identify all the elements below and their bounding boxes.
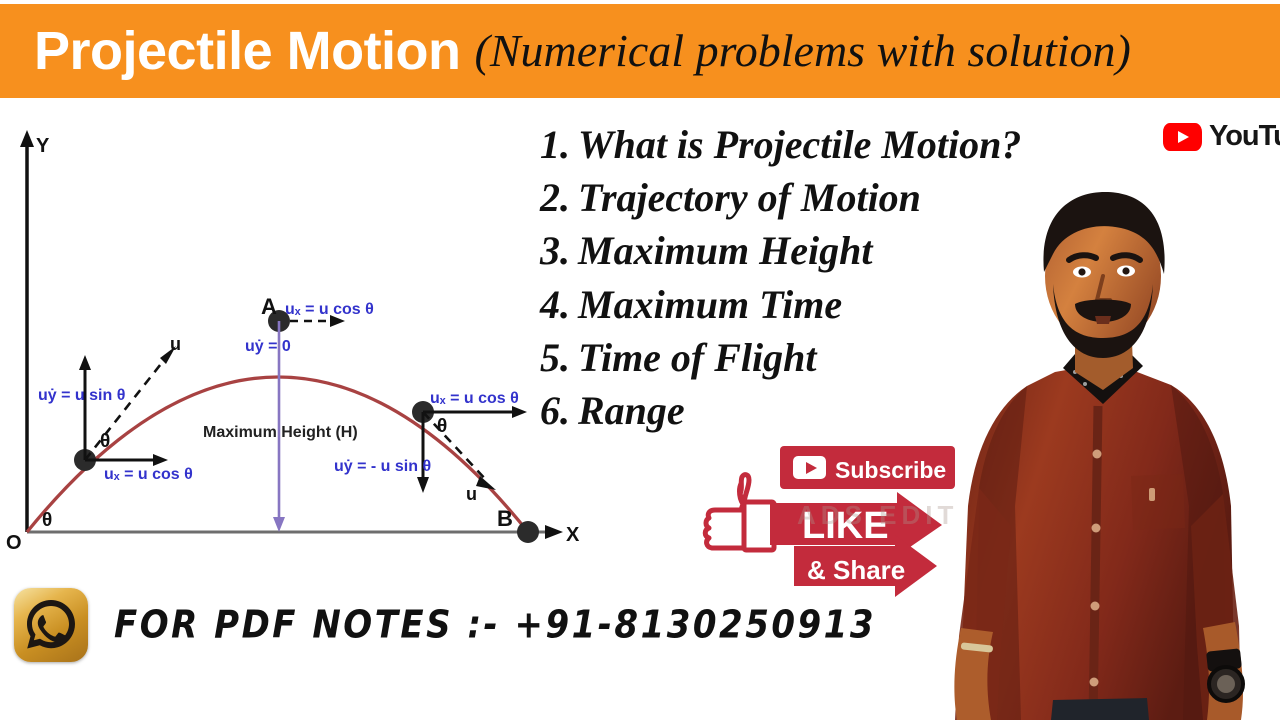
ascending-uy-label: uẏ = u sin θ: [38, 387, 125, 404]
subscribe-button[interactable]: Subscribe: [780, 446, 955, 489]
whatsapp-contact-text: FOR PDF NOTES :- +91-8130250913: [114, 606, 876, 644]
descending-ux-label: uₓ = u cos θ: [430, 390, 519, 407]
list-item: 1.What is Projectile Motion?: [540, 118, 1180, 171]
youtube-label: YouTube: [1209, 122, 1280, 151]
apex-uy-label: uẏ = 0: [245, 338, 291, 355]
page-title: Projectile Motion: [34, 24, 461, 78]
projectile-diagram: Y X O θ θ u uẏ = u sin θ: [0, 112, 600, 572]
thumbs-up-icon: [705, 475, 774, 550]
presenter-photo: [935, 176, 1280, 720]
list-item-label: Trajectory of Motion: [578, 175, 921, 220]
list-item-label: Maximum Height: [578, 228, 873, 273]
landing-point-dot: [517, 521, 539, 543]
whatsapp-icon[interactable]: [14, 588, 88, 662]
apex-ux-label: uₓ = u cos θ: [285, 301, 374, 318]
origin-angle-label: θ: [42, 510, 52, 531]
axis-x: [27, 525, 563, 539]
axis-x-label: X: [566, 524, 580, 546]
descending-point-group: θ u: [412, 401, 527, 504]
descending-uy-label: uẏ = - u sin θ: [334, 458, 431, 475]
header-banner: Projectile Motion (Numerical problems wi…: [0, 4, 1280, 98]
list-item-label: Maximum Time: [578, 282, 842, 327]
ascending-angle-label: θ: [100, 431, 110, 452]
list-item-label: Time of Flight: [578, 335, 817, 380]
axis-y-label: Y: [36, 135, 50, 157]
descending-angle-label: θ: [437, 416, 447, 437]
youtube-play-icon: [1163, 123, 1202, 151]
ascending-ux-label: uₓ = u cos θ: [104, 466, 193, 483]
whatsapp-contact-row[interactable]: FOR PDF NOTES :- +91-8130250913: [14, 588, 876, 662]
axis-y: [20, 130, 34, 532]
share-label: & Share: [807, 555, 905, 585]
subscribe-label: Subscribe: [835, 457, 946, 483]
ascending-u-label: u: [170, 334, 181, 354]
descending-u-label: u: [466, 484, 477, 504]
like-label: LIKE: [802, 505, 889, 547]
page-subtitle: (Numerical problems with solution): [475, 28, 1131, 74]
landing-label: B: [497, 506, 513, 531]
origin-label: O: [6, 532, 22, 554]
slide-canvas: Projectile Motion (Numerical problems wi…: [0, 0, 1280, 720]
max-height-label: Maximum Height (H): [203, 424, 358, 441]
youtube-logo: YouTube: [1163, 122, 1280, 151]
list-item-label: What is Projectile Motion?: [578, 122, 1021, 167]
apex-label: A: [261, 294, 277, 319]
